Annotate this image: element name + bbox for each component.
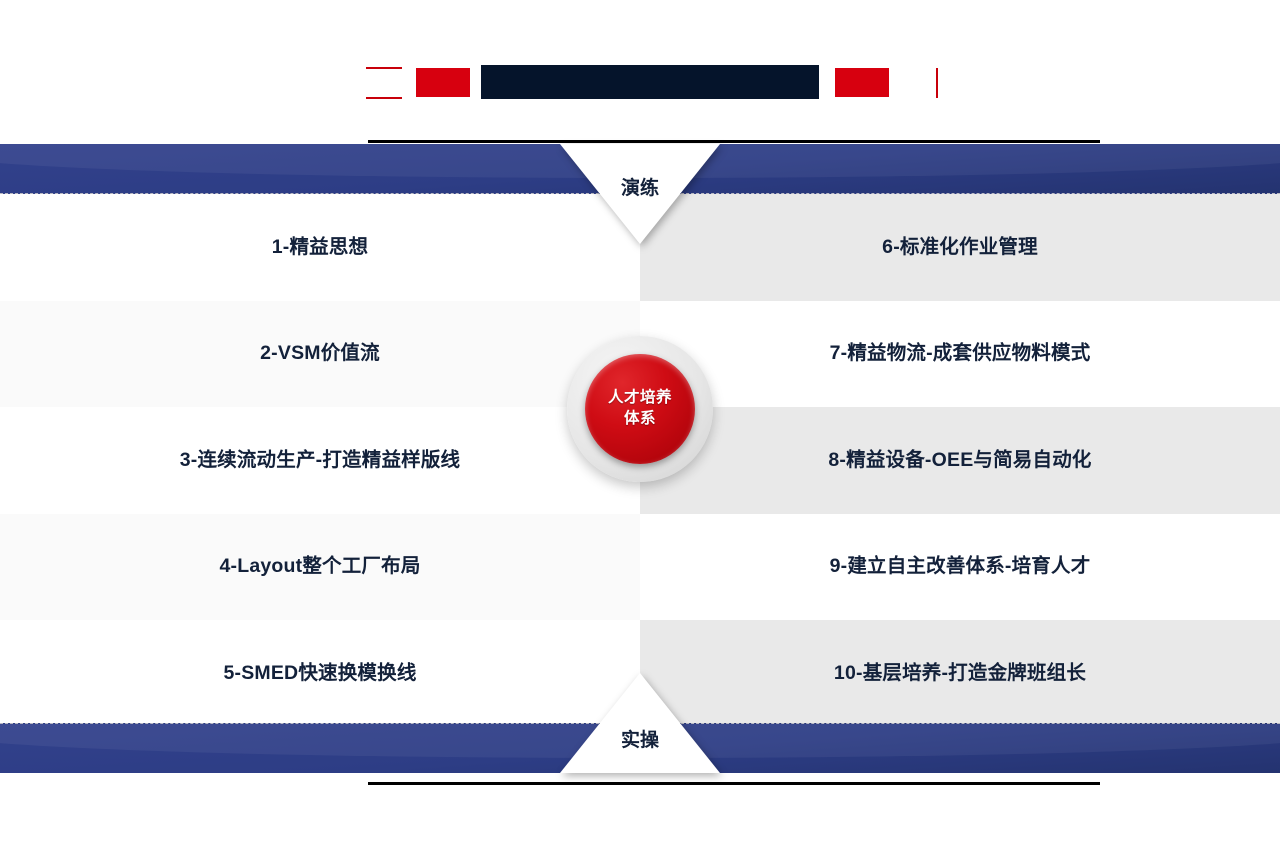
matrix-item-label: 1-精益思想 <box>272 236 369 259</box>
matrix-item-label: 2-VSM价值流 <box>260 342 380 365</box>
matrix-cell-left[interactable]: 4-Layout整个工厂布局 <box>0 514 640 621</box>
header-divider-rule <box>368 140 1100 143</box>
red-underline-bottom <box>366 97 402 99</box>
training-matrix: 1-精益思想 6-标准化作业管理 2-VSM价值流 7-精益物流-成套供应物料模… <box>0 144 1280 772</box>
bottom-band-marker: 实操 <box>560 673 720 773</box>
matrix-item-label: 5-SMED快速换模换线 <box>223 662 416 685</box>
matrix-cell-left[interactable]: 2-VSM价值流 <box>0 301 640 408</box>
hub-label-line1: 人才培养 <box>608 388 672 409</box>
matrix-item-label: 8-精益设备-OEE与简易自动化 <box>828 449 1091 472</box>
matrix-item-label: 7-精益物流-成套供应物料模式 <box>830 342 1091 365</box>
red-underline-top <box>366 67 402 69</box>
red-vertical-rule <box>936 68 938 98</box>
matrix-cell-right[interactable]: 9-建立自主改善体系-培育人才 <box>640 514 1280 621</box>
hub-circle: 人才培养 体系 <box>585 354 695 464</box>
matrix-item-label: 3-连续流动生产-打造精益样版线 <box>180 449 461 472</box>
red-block-right <box>835 68 889 97</box>
slide-canvas: 远大方略 远大方略 远大方略 1-精益思想 6-标准化作业管理 <box>0 0 1280 850</box>
matrix-cell-right[interactable]: 7-精益物流-成套供应物料模式 <box>640 301 1280 408</box>
matrix-item-label: 6-标准化作业管理 <box>882 236 1038 259</box>
triangle-up-icon <box>560 673 720 773</box>
hub-label-line2: 体系 <box>624 409 656 430</box>
matrix-item-label: 10-基层培养-打造金牌班组长 <box>834 662 1086 685</box>
matrix-cell-left[interactable]: 3-连续流动生产-打造精益样版线 <box>0 407 640 514</box>
center-hub[interactable]: 人才培养 体系 <box>567 336 713 482</box>
matrix-item-label: 9-建立自主改善体系-培育人才 <box>830 555 1091 578</box>
red-block-left <box>416 68 470 97</box>
navy-title-block <box>481 65 819 99</box>
matrix-cell-right[interactable]: 6-标准化作业管理 <box>640 194 1280 301</box>
matrix-cell-right[interactable]: 8-精益设备-OEE与简易自动化 <box>640 407 1280 514</box>
top-band-marker: 演练 <box>560 144 720 244</box>
matrix-item-label: 4-Layout整个工厂布局 <box>219 555 420 578</box>
top-band-label: 演练 <box>560 173 720 200</box>
title-header <box>0 0 1280 142</box>
footer-divider-rule <box>368 782 1100 785</box>
matrix-cell-left[interactable]: 1-精益思想 <box>0 194 640 301</box>
bottom-band-label: 实操 <box>560 725 720 752</box>
matrix-cell-right[interactable]: 10-基层培养-打造金牌班组长 <box>640 620 1280 727</box>
matrix-cell-left[interactable]: 5-SMED快速换模换线 <box>0 620 640 727</box>
table-row: 4-Layout整个工厂布局 9-建立自主改善体系-培育人才 <box>0 514 1280 621</box>
